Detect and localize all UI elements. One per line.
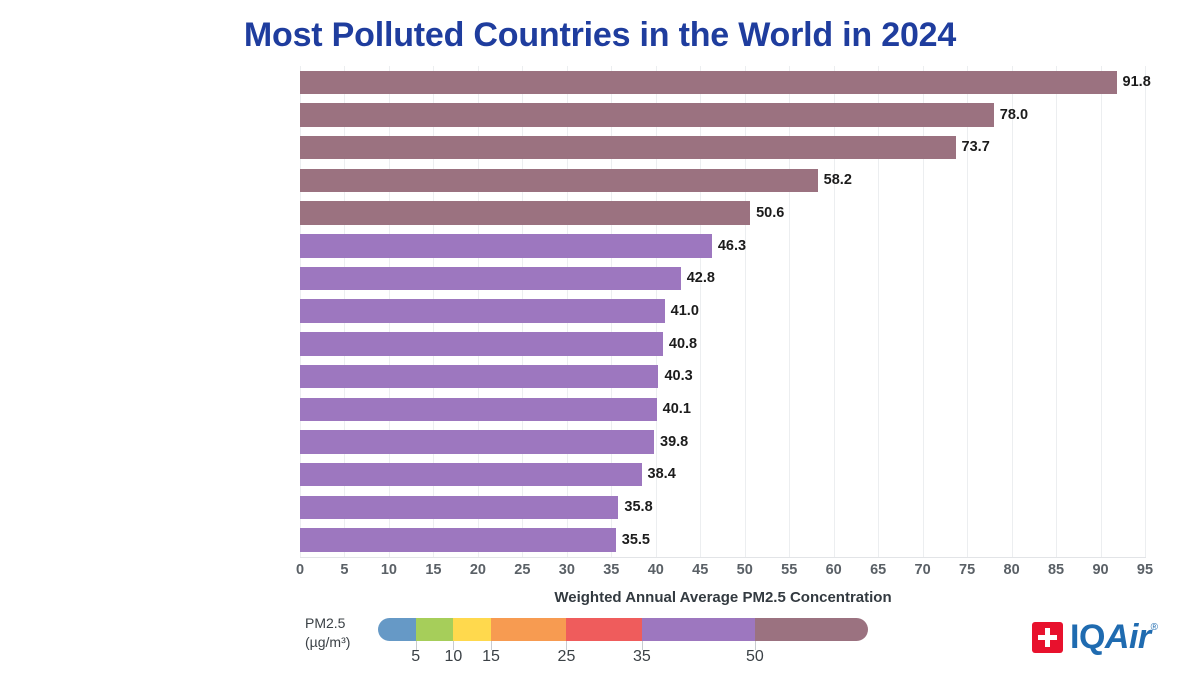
legend-label-line2: (µg/m³) (305, 633, 373, 652)
bar-value-label: 42.8 (687, 262, 715, 295)
iqair-logo[interactable]: IQAir ® (1032, 620, 1158, 654)
bar-row: Rwanda40.8 (300, 328, 1200, 361)
bar-value-label: 40.8 (669, 328, 697, 361)
bar-row: Burundi40.3 (300, 360, 1200, 393)
x-tick-label: 70 (903, 562, 943, 578)
bar-row: Indonesia35.5 (300, 524, 1200, 557)
bar-row: Bangladesh78.0 (300, 99, 1200, 132)
bar-value-label: 58.2 (824, 164, 852, 197)
bar-row: Egypt39.8 (300, 426, 1200, 459)
x-tick-label: 30 (547, 562, 587, 578)
legend-tick-label: 15 (469, 648, 513, 666)
bar-row: Nigeria40.1 (300, 393, 1200, 426)
x-tick-label: 5 (324, 562, 364, 578)
bar-value-label: 78.0 (1000, 99, 1028, 132)
legend: PM2.5 (µg/m³) 51015253550 (305, 612, 905, 670)
x-tick-label: 65 (858, 562, 898, 578)
bar[interactable] (300, 267, 681, 291)
bar[interactable] (300, 430, 654, 454)
legend-tick-label: 50 (733, 648, 777, 666)
legend-segment-moderate (416, 618, 454, 641)
legend-tick-label: 35 (620, 648, 664, 666)
x-tick-label: 60 (814, 562, 854, 578)
plot-area: Chad91.8Bangladesh78.0Pakistan73.7Democr… (300, 66, 1145, 557)
bar[interactable] (300, 169, 818, 193)
x-tick-label: 80 (992, 562, 1032, 578)
bar-value-label: 41.0 (671, 295, 699, 328)
bar-value-label: 35.5 (622, 524, 650, 557)
bar-value-label: 38.4 (648, 458, 676, 491)
logo-text-air: Air (1105, 618, 1151, 656)
x-tick-label: 0 (280, 562, 320, 578)
bar-row: Uganda41.0 (300, 295, 1200, 328)
bar[interactable] (300, 496, 618, 520)
legend-segment-hazardous (755, 618, 868, 641)
x-tick-label: 25 (502, 562, 542, 578)
logo-text: IQAir (1070, 620, 1151, 654)
x-axis-baseline (300, 557, 1146, 558)
bar[interactable] (300, 332, 663, 356)
bar-value-label: 35.8 (624, 491, 652, 524)
bar-row: Chad91.8 (300, 66, 1200, 99)
bar[interactable] (300, 103, 994, 127)
x-tick-label: 45 (680, 562, 720, 578)
bar-row: Ghana35.8 (300, 491, 1200, 524)
legend-segment-unhealthy-sensitive (491, 618, 566, 641)
bar-value-label: 73.7 (962, 131, 990, 164)
chart-page: Most Polluted Countries in the World in … (0, 0, 1200, 675)
bar-value-label: 39.8 (660, 426, 688, 459)
x-tick-label: 95 (1125, 562, 1165, 578)
bar-row: Democratic Republic of the Congo58.2 (300, 164, 1200, 197)
swiss-cross-icon (1032, 622, 1063, 653)
bar[interactable] (300, 365, 658, 389)
legend-segment-very-unhealthy (642, 618, 755, 641)
bar-row: India50.6 (300, 197, 1200, 230)
bar-value-label: 46.3 (718, 230, 746, 263)
x-tick-label: 35 (591, 562, 631, 578)
bar-row: Nepal42.8 (300, 262, 1200, 295)
bar[interactable] (300, 299, 665, 323)
bar[interactable] (300, 528, 616, 552)
legend-color-scale (378, 618, 868, 641)
bar[interactable] (300, 463, 642, 487)
x-tick-label: 85 (1036, 562, 1076, 578)
bar-row: Iraq38.4 (300, 458, 1200, 491)
bar-row: Tajikistan46.3 (300, 230, 1200, 263)
x-tick-label: 15 (413, 562, 453, 578)
bar[interactable] (300, 71, 1117, 95)
legend-segment-unhealthy (566, 618, 641, 641)
bar[interactable] (300, 136, 956, 160)
bar-value-label: 91.8 (1123, 66, 1151, 99)
bar-value-label: 40.3 (664, 360, 692, 393)
x-tick-label: 20 (458, 562, 498, 578)
x-tick-label: 40 (636, 562, 676, 578)
logo-registered-mark: ® (1151, 622, 1158, 633)
legend-segment-good (378, 618, 416, 641)
x-tick-label: 10 (369, 562, 409, 578)
x-tick-label: 75 (947, 562, 987, 578)
bar-row: Pakistan73.7 (300, 131, 1200, 164)
legend-label: PM2.5 (µg/m³) (305, 614, 373, 652)
page-title: Most Polluted Countries in the World in … (0, 16, 1200, 55)
legend-segment-unhealthy-sensitive-low (453, 618, 491, 641)
x-tick-label: 55 (769, 562, 809, 578)
legend-label-line1: PM2.5 (305, 614, 373, 633)
logo-text-iq: IQ (1070, 618, 1105, 656)
bar[interactable] (300, 234, 712, 258)
bar[interactable] (300, 201, 750, 225)
x-tick-label: 50 (725, 562, 765, 578)
bar-value-label: 50.6 (756, 197, 784, 230)
x-axis-title: Weighted Annual Average PM2.5 Concentrat… (300, 589, 1146, 606)
x-tick-label: 90 (1081, 562, 1121, 578)
bar-value-label: 40.1 (663, 393, 691, 426)
legend-tick-label: 25 (544, 648, 588, 666)
bar[interactable] (300, 398, 657, 422)
